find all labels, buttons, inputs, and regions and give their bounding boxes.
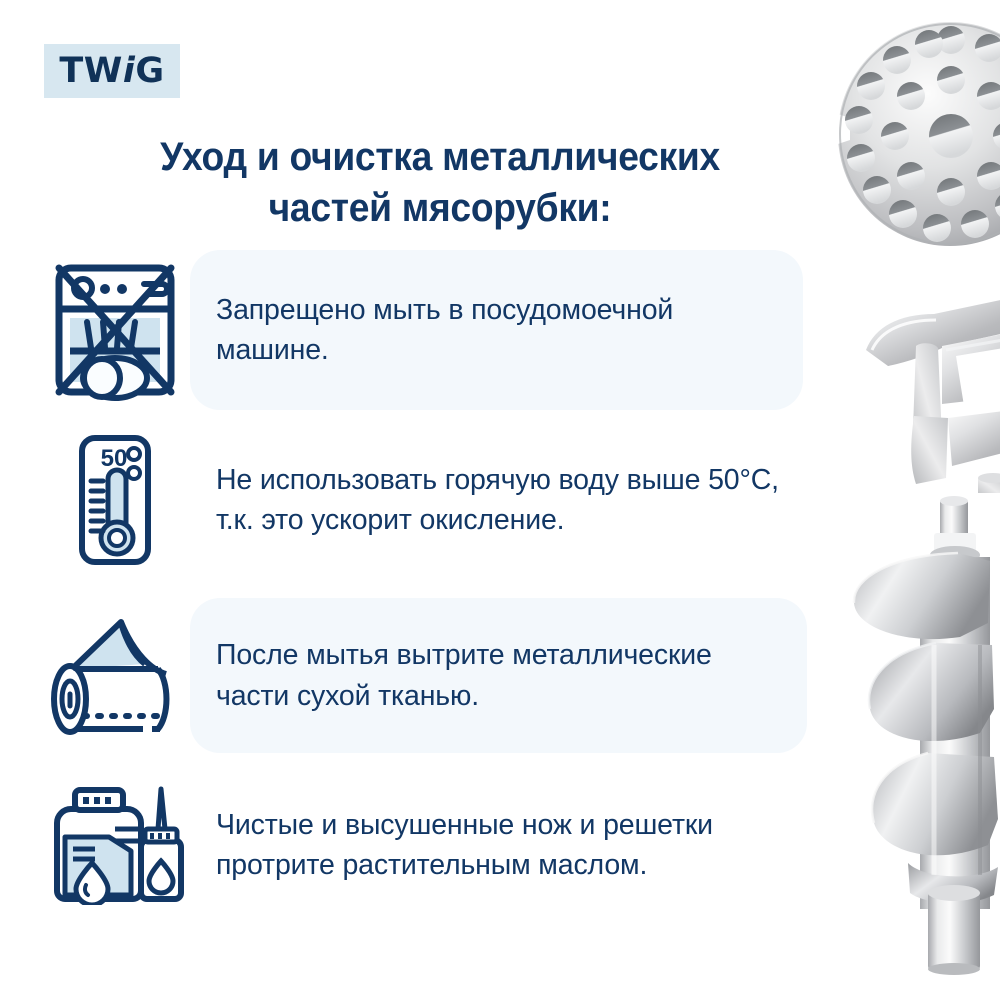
infographic-page: TWiG Уход и очистка металлических частей… (0, 0, 1000, 1000)
dishwasher-prohibited-icon (51, 256, 179, 404)
tip-row-3: После мытья вытрите металлические части … (40, 598, 845, 753)
tip-text-3: После мытья вытрите металлические части … (190, 617, 807, 734)
page-title-line-2: частей мясорубки: (87, 183, 794, 234)
tip-card-4: Чистые и высушенные нож и решетки протри… (190, 765, 840, 925)
tip-icon-3 (40, 616, 190, 736)
tip-icon-4 (40, 785, 190, 905)
tip-text-2: Не использовать горячую воду выше 50°C, … (190, 442, 840, 559)
tip-text-1: Запрещено мыть в посудомоечной машине. (190, 272, 803, 389)
tip-card-2: Не использовать горячую воду выше 50°C, … (190, 425, 840, 575)
page-title-line-1: Уход и очистка металлических (87, 132, 794, 183)
brand-logo: TWiG (44, 44, 180, 98)
grinder-auger-photo (848, 495, 1000, 975)
tip-row-2: 50 (40, 425, 870, 575)
grinder-plate-photo (835, 18, 1000, 250)
thermometer-50-degrees-icon: 50 (65, 433, 165, 567)
cloth-roll-icon (48, 616, 182, 736)
tip-row-4: Чистые и высушенные нож и решетки протри… (40, 765, 870, 925)
tip-card-1: Запрещено мыть в посудомоечной машине. (190, 250, 803, 410)
grinder-knife-photo (838, 288, 1000, 493)
tip-row-1: Запрещено мыть в посудомоечной машине. (40, 250, 840, 410)
page-title: Уход и очистка металлических частей мясо… (87, 132, 794, 234)
brand-logo-text: TWiG (59, 54, 164, 89)
tip-card-3: После мытья вытрите металлические части … (190, 598, 807, 753)
oil-bottles-icon (45, 785, 185, 905)
tip-icon-2: 50 (40, 433, 190, 567)
brand-logo-italic-letter: i (123, 51, 136, 91)
brand-logo-prefix: TW (59, 51, 122, 91)
tip-icon-1 (40, 256, 190, 404)
tip-text-4: Чистые и высушенные нож и решетки протри… (190, 787, 840, 904)
brand-logo-suffix: G (135, 51, 164, 91)
